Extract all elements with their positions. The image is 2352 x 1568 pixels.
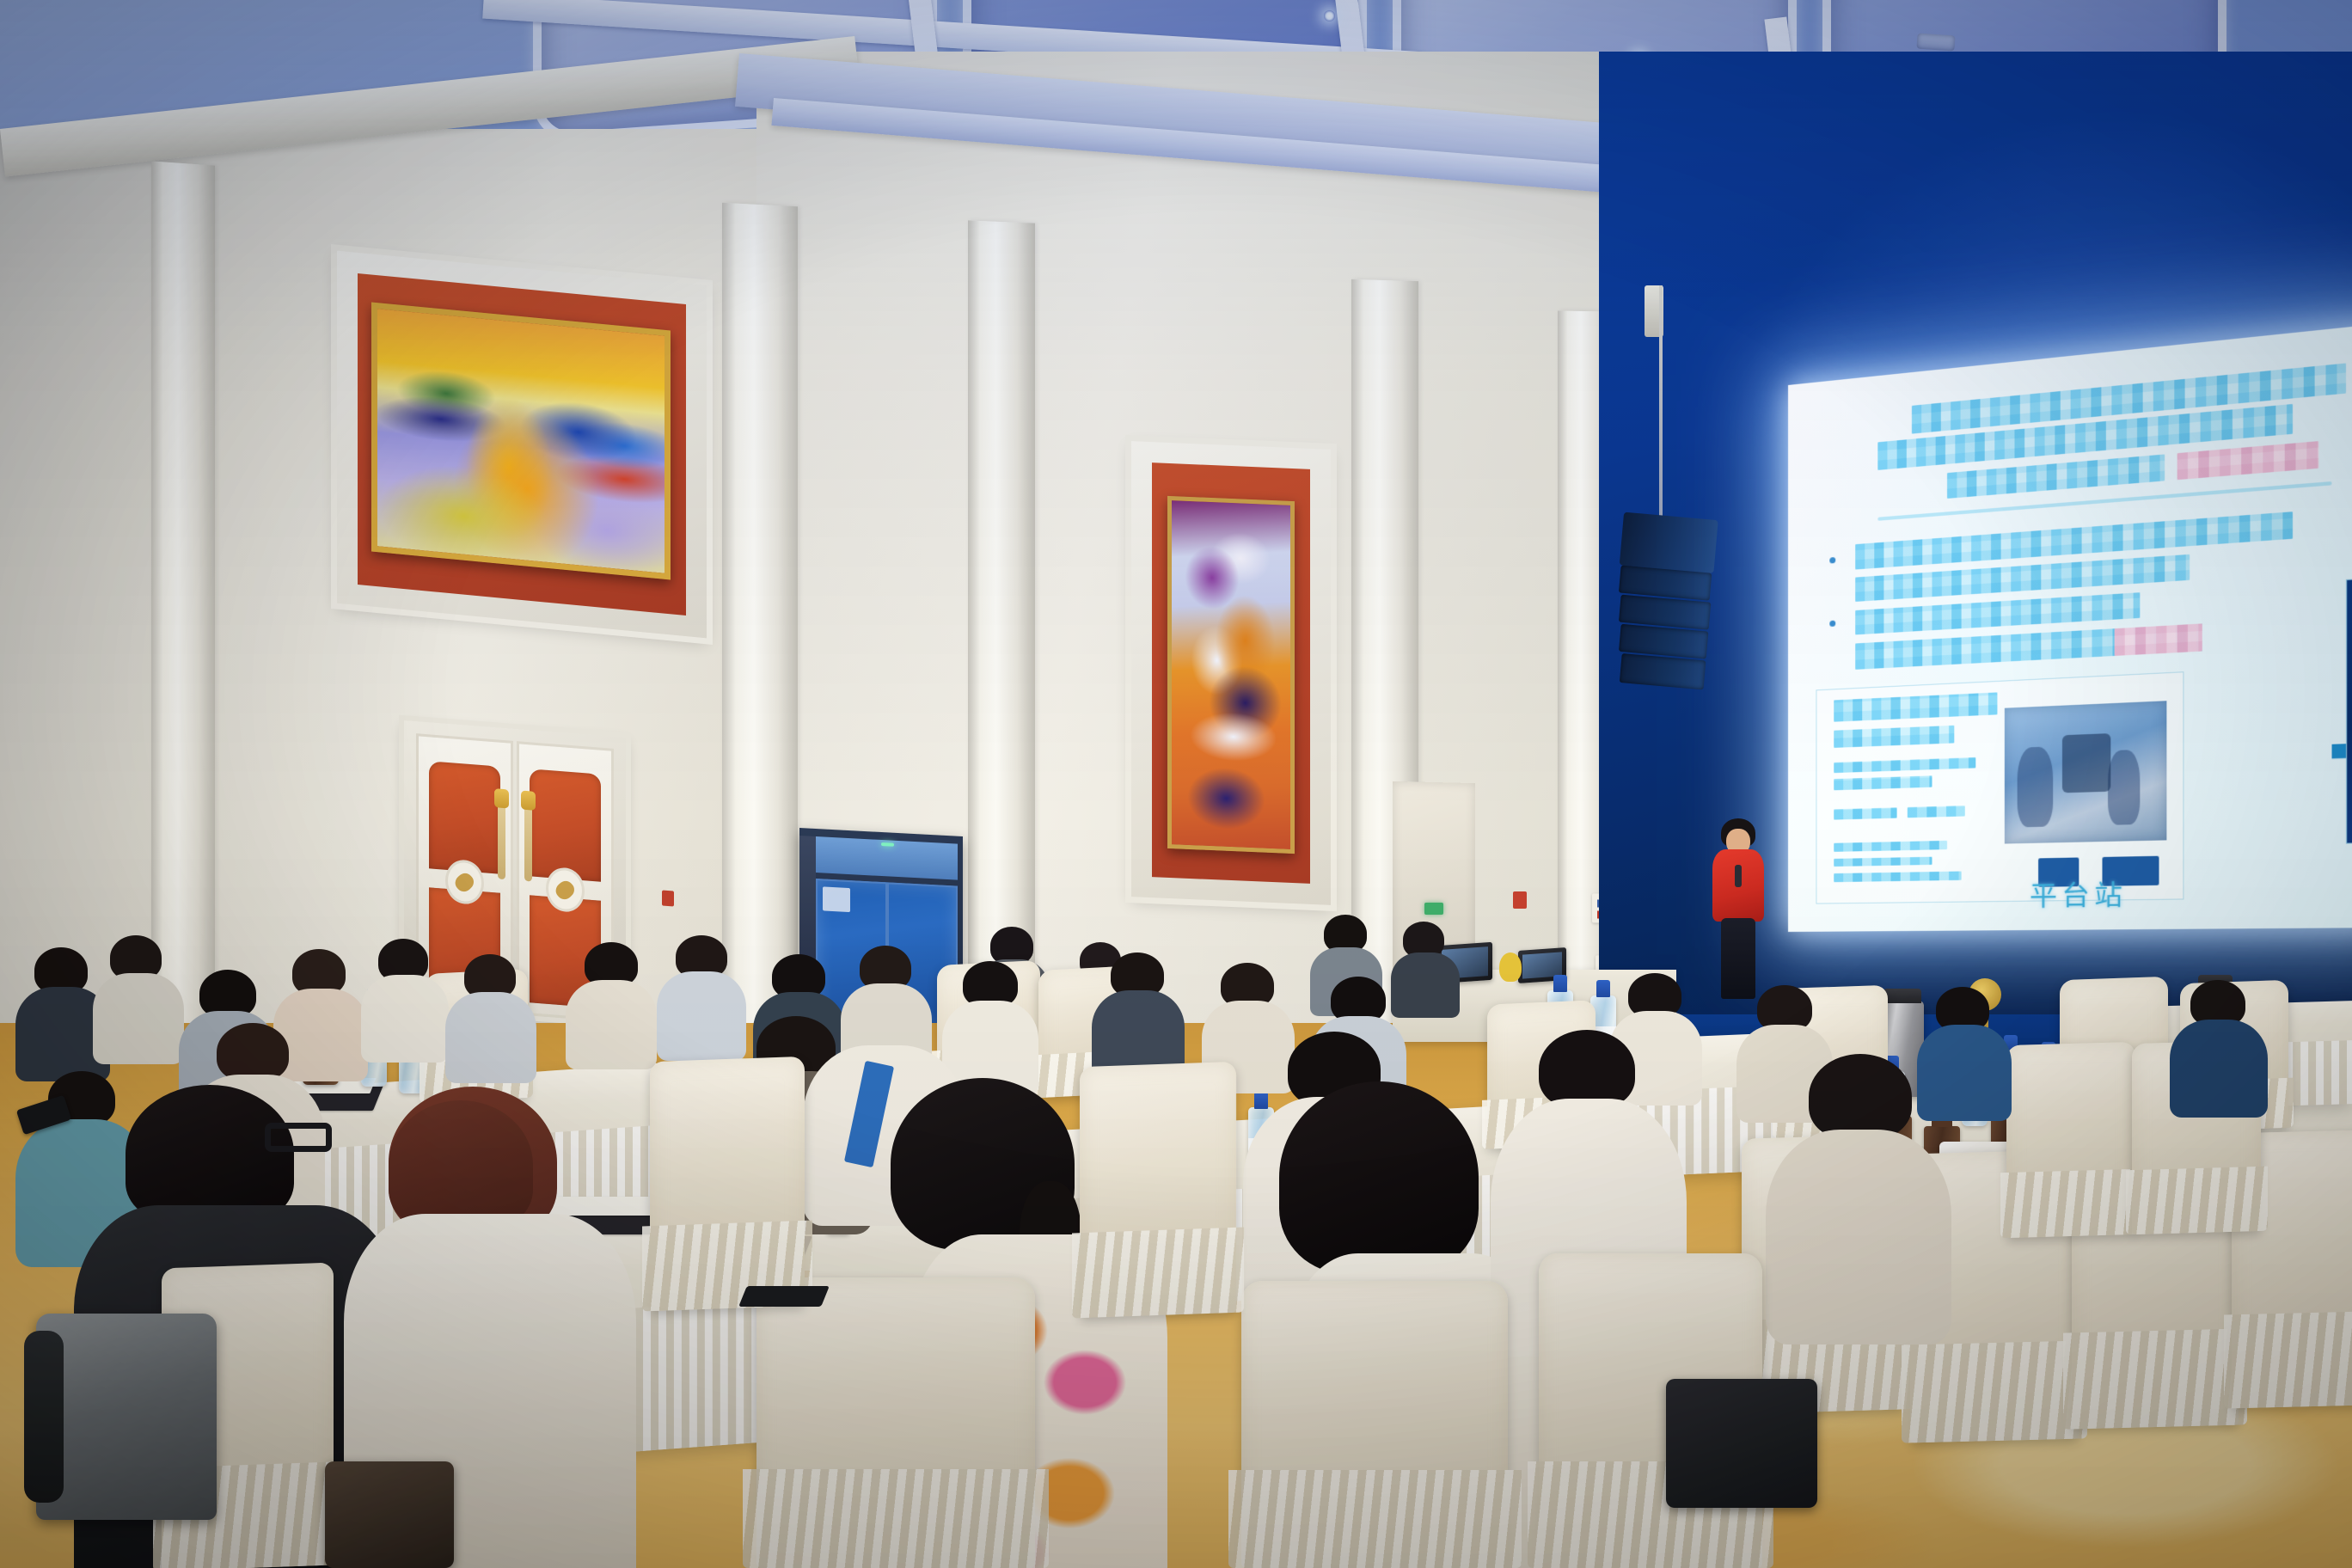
banquet-chair[interactable] bbox=[1080, 1062, 1236, 1318]
chair-skirt bbox=[2224, 1311, 2352, 1409]
abstract-landscape-painting bbox=[371, 303, 671, 580]
smartphone[interactable] bbox=[738, 1286, 830, 1307]
photo-figure bbox=[2018, 747, 2053, 828]
painting-canvas bbox=[1172, 500, 1290, 849]
speaker-head bbox=[1620, 512, 1718, 573]
photo-figure bbox=[2108, 749, 2141, 824]
wall-pilaster bbox=[968, 220, 1035, 1048]
wall-socket-icon bbox=[662, 891, 674, 907]
speaker-cabinet bbox=[1620, 653, 1706, 689]
slide-promo-tile bbox=[2345, 568, 2352, 843]
chair-skirt bbox=[743, 1469, 1049, 1568]
card-redacted-text bbox=[1834, 776, 1932, 790]
handbag[interactable] bbox=[325, 1461, 454, 1568]
speaker-rigging-cable bbox=[1659, 285, 1663, 519]
backpack[interactable] bbox=[36, 1314, 217, 1520]
ceiling-vent bbox=[1916, 33, 1955, 51]
door-handle-icon[interactable] bbox=[498, 804, 505, 879]
wall-pilaster bbox=[151, 161, 215, 1033]
slide-screenshot-card bbox=[1816, 671, 2184, 903]
desk-lamp-icon bbox=[1499, 952, 1522, 982]
notepad bbox=[547, 1197, 665, 1216]
card-thumbnail-photo bbox=[2005, 701, 2167, 844]
person-torso bbox=[1917, 1025, 2012, 1121]
door-panel bbox=[429, 761, 500, 873]
eyeglasses-icon bbox=[265, 1123, 332, 1152]
photo-monitor bbox=[2062, 733, 2111, 793]
conference-hall-photo: 平台站 bbox=[0, 0, 2352, 1568]
person-torso bbox=[566, 980, 657, 1069]
card-redacted-text bbox=[1834, 757, 1975, 773]
card-redacted-text bbox=[1834, 807, 1896, 819]
person-hair bbox=[126, 1085, 294, 1222]
banquet-chair[interactable] bbox=[1241, 1281, 1508, 1568]
door-panel bbox=[530, 769, 601, 881]
cabinet-label bbox=[823, 887, 850, 913]
person-torso bbox=[93, 973, 184, 1064]
person-torso bbox=[1766, 1130, 1951, 1344]
fire-alarm-icon bbox=[1513, 891, 1527, 909]
exit-sign-icon bbox=[1424, 903, 1443, 915]
painting-canvas bbox=[377, 309, 665, 573]
presenter bbox=[1709, 818, 1767, 999]
banquet-chair[interactable] bbox=[650, 1057, 805, 1311]
cabinet-header bbox=[816, 836, 958, 879]
person-hair bbox=[1279, 1081, 1479, 1274]
chair-skirt bbox=[1072, 1227, 1244, 1318]
line-array-speaker bbox=[1608, 512, 1718, 696]
wall-pilaster bbox=[722, 203, 798, 1050]
card-redacted-text bbox=[1834, 841, 1946, 852]
person-torso bbox=[361, 975, 449, 1063]
person-hair bbox=[1539, 1030, 1635, 1109]
chair-skirt bbox=[1902, 1340, 2087, 1443]
person-torso bbox=[2170, 1020, 2268, 1118]
person-hair bbox=[389, 1100, 533, 1229]
banquet-chair[interactable] bbox=[756, 1277, 1035, 1568]
slide-redacted-text bbox=[2115, 624, 2202, 656]
card-redacted-badge bbox=[1834, 726, 1954, 748]
abstract-vertical-painting bbox=[1167, 496, 1295, 854]
slide-bullet-icon bbox=[1829, 556, 1835, 563]
person-torso bbox=[657, 971, 746, 1061]
banquet-chair[interactable] bbox=[2006, 1042, 2135, 1238]
card-redacted-text bbox=[1908, 805, 1965, 818]
ceiling-downlight bbox=[1324, 10, 1335, 21]
card-redacted-text bbox=[1834, 856, 1932, 867]
chair-skirt bbox=[1228, 1470, 1522, 1568]
person-hair bbox=[217, 1023, 289, 1081]
card-redacted-title bbox=[1834, 693, 1997, 722]
person-hair bbox=[1809, 1054, 1912, 1140]
person-torso bbox=[445, 992, 536, 1083]
chair-skirt bbox=[2063, 1328, 2246, 1429]
microphone-icon bbox=[1735, 865, 1742, 887]
bag[interactable] bbox=[1666, 1379, 1817, 1508]
chair-skirt bbox=[2000, 1169, 2142, 1239]
person-torso bbox=[1391, 952, 1460, 1018]
person-torso bbox=[273, 989, 368, 1081]
presenter-skirt bbox=[1721, 918, 1755, 999]
projection-screen: 平台站 bbox=[1788, 322, 2352, 932]
door-handle-icon[interactable] bbox=[524, 806, 532, 882]
status-indicator-icon bbox=[881, 842, 894, 847]
chair-skirt bbox=[2126, 1166, 2268, 1234]
